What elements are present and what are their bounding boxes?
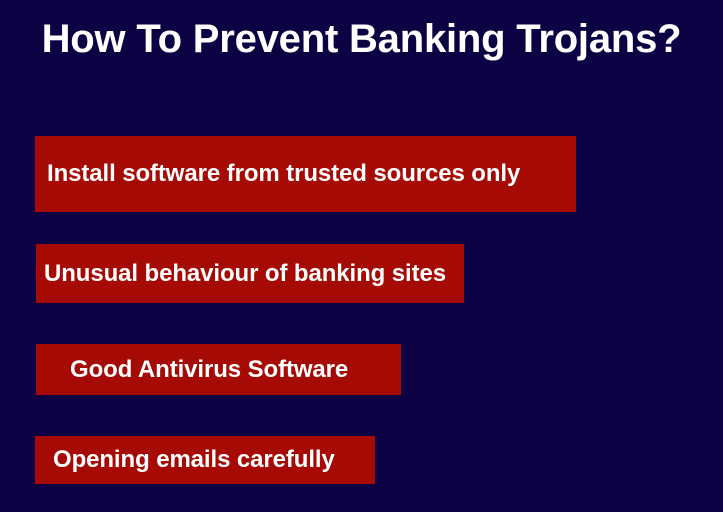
bar-item-3: Good Antivirus Software xyxy=(36,344,401,395)
bar-label-2: Unusual behaviour of banking sites xyxy=(44,260,446,288)
bar-item-2: Unusual behaviour of banking sites xyxy=(36,244,464,303)
bar-label-1: Install software from trusted sources on… xyxy=(47,160,520,188)
bar-label-3: Good Antivirus Software xyxy=(70,356,348,384)
bar-item-4: Opening emails carefully xyxy=(35,436,375,484)
bar-item-1: Install software from trusted sources on… xyxy=(35,136,576,212)
bar-label-4: Opening emails carefully xyxy=(53,446,335,474)
slide-canvas: How To Prevent Banking Trojans? Install … xyxy=(0,0,723,512)
page-title: How To Prevent Banking Trojans? xyxy=(0,16,723,62)
